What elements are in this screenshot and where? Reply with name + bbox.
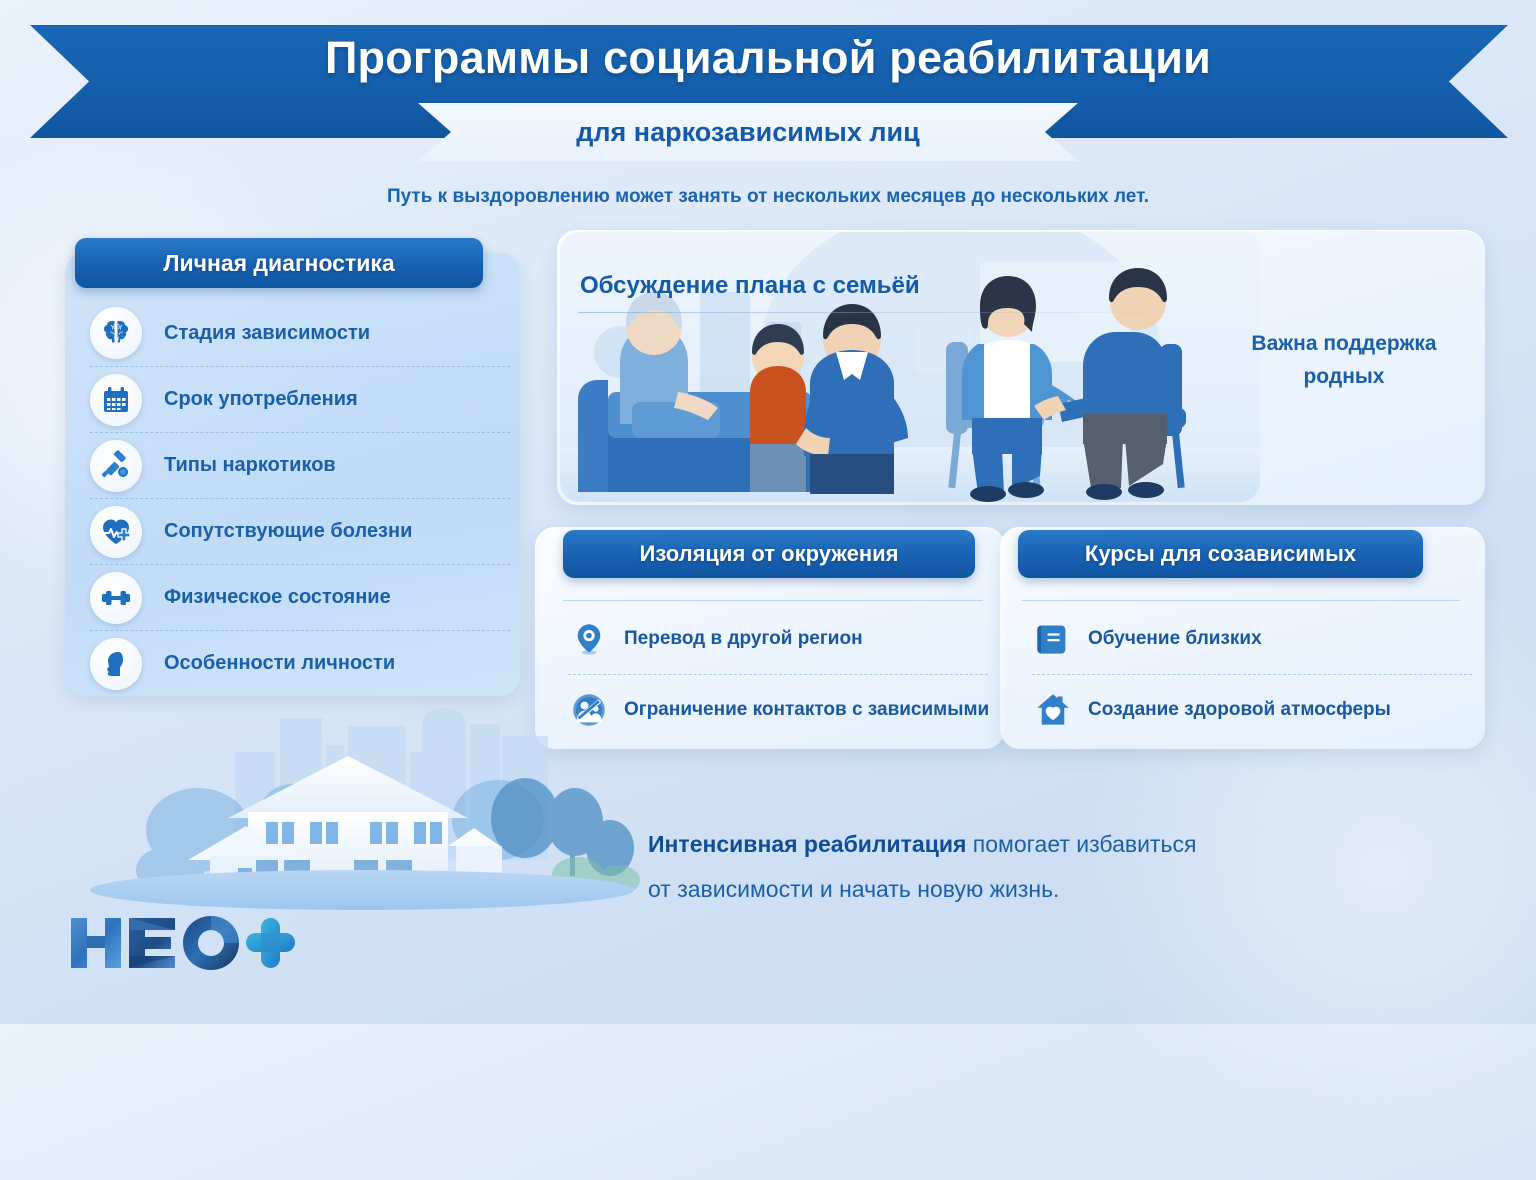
list-item-label: Физическое состояние	[164, 586, 391, 609]
list-item[interactable]: Типы наркотиков	[90, 432, 510, 498]
brain-icon	[90, 307, 142, 359]
list-item-label: Типы наркотиков	[164, 454, 336, 477]
brand-logo	[65, 912, 305, 974]
list-item[interactable]: Срок употребления	[90, 366, 510, 432]
house-heart-icon	[1032, 689, 1074, 731]
conclusion-text: Интенсивная реабилитация помогает избави…	[648, 822, 1408, 912]
list-item-label: Сопутствующие болезни	[164, 520, 412, 543]
family-card-divider	[578, 312, 1218, 313]
family-card-title: Обсуждение плана с семьёй	[580, 272, 920, 300]
isolation-divider-top	[563, 600, 983, 601]
isolation-heading: Изоляция от окружения	[563, 530, 975, 578]
list-item-label: Особенности личности	[164, 652, 395, 675]
page-title: Программы социальной реабилитации	[0, 32, 1536, 84]
heart-plus-icon	[90, 506, 142, 558]
calendar-icon	[90, 374, 142, 426]
syringe-icon	[90, 440, 142, 492]
list-item-label: Обучение близких	[1088, 628, 1262, 650]
lead-paragraph: Путь к выздоровлению может занять от нес…	[0, 186, 1536, 208]
courses-divider-top	[1022, 600, 1460, 601]
list-item[interactable]: Создание здоровой атмосферы	[1032, 674, 1472, 744]
conclusion-line-2: от зависимости и начать новую жизнь.	[648, 867, 1408, 912]
list-item[interactable]: Особенности личности	[90, 630, 510, 696]
support-note: Важна поддержка родных	[1218, 328, 1470, 393]
house-neighborhood-illustration	[70, 700, 655, 910]
conclusion-strong: Интенсивная реабилитация	[648, 831, 966, 857]
book-icon	[1032, 618, 1074, 660]
dumbbell-icon	[90, 572, 142, 624]
courses-list: Обучение близких Создание здоровой атмос…	[1032, 604, 1472, 744]
page-subtitle: для наркозависимых лиц	[418, 103, 1078, 161]
conclusion-line-1: Интенсивная реабилитация помогает избави…	[648, 822, 1408, 867]
head-profile-icon	[90, 638, 142, 690]
list-item-label: Ограничение контактов с зависимыми	[624, 699, 989, 721]
conclusion-rest: помогает избавиться	[966, 831, 1196, 857]
list-item[interactable]: Сопутствующие болезни	[90, 498, 510, 564]
courses-heading: Курсы для созависимых	[1018, 530, 1423, 578]
list-item-label: Создание здоровой атмосферы	[1088, 699, 1391, 721]
list-item[interactable]: Перевод в другой регион	[568, 604, 988, 674]
list-item-label: Перевод в другой регион	[624, 628, 863, 650]
diagnostics-list: Стадия зависимости Срок употребления	[90, 300, 510, 696]
diagnostics-heading: Личная диагностика	[75, 238, 483, 288]
list-item-label: Стадия зависимости	[164, 322, 370, 345]
list-item[interactable]: Стадия зависимости	[90, 300, 510, 366]
list-item-label: Срок употребления	[164, 388, 358, 411]
map-pin-icon	[568, 618, 610, 660]
list-item[interactable]: Физическое состояние	[90, 564, 510, 630]
list-item[interactable]: Обучение близких	[1032, 604, 1472, 674]
